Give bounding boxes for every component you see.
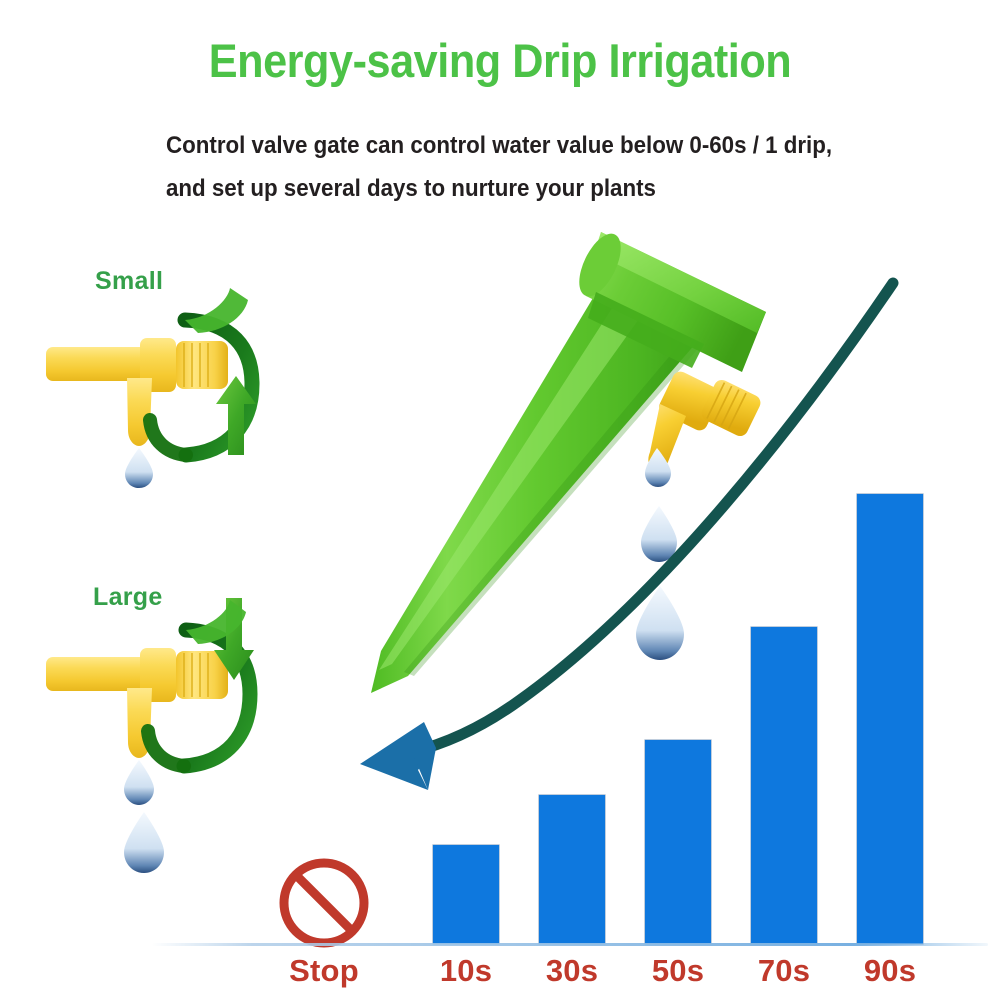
rotation-ring-small [185, 320, 252, 455]
water-drop-icon [124, 812, 164, 873]
valve-label-small: Small [95, 267, 163, 296]
tick-label-90s: 90s [830, 953, 950, 989]
water-drop-icon [641, 506, 677, 562]
page-title: Energy-saving Drip Irrigation [40, 33, 960, 88]
water-drop-icon [124, 760, 154, 805]
tick-label-70s: 70s [724, 953, 844, 989]
chart-baseline-axis [152, 943, 988, 946]
yellow-control-valve-icon [648, 369, 763, 470]
tick-label-stop: Stop [264, 953, 384, 989]
water-drop-icon [125, 448, 153, 488]
subtitle-line-1: Control valve gate can control water val… [166, 132, 832, 159]
tick-label-10s: 10s [406, 953, 526, 989]
bar-30s [539, 795, 605, 944]
subtitle-line-2: and set up several days to nurture your … [166, 167, 836, 210]
infographic-canvas: Energy-saving Drip Irrigation Control va… [0, 0, 1000, 1000]
water-drop-icon [636, 586, 684, 660]
tick-label-30s: 30s [512, 953, 632, 989]
rotate-up-arrow-icon [216, 376, 256, 455]
bar-70s [751, 627, 817, 944]
valve-label-large: Large [93, 583, 163, 612]
tick-label-50s: 50s [618, 953, 738, 989]
bar-10s [433, 845, 499, 944]
subtitle: Control valve gate can control water val… [166, 124, 836, 210]
rotate-down-arrow-icon [214, 598, 254, 680]
water-drop-icon [645, 448, 671, 487]
valve-assembly-large [46, 598, 254, 873]
arrow-head [360, 722, 436, 790]
bar-50s [645, 740, 711, 944]
green-dripper-cone-icon [371, 227, 766, 693]
bar-90s [857, 494, 923, 944]
rotation-ring-large [184, 630, 250, 766]
valve-assembly-small [46, 288, 256, 488]
